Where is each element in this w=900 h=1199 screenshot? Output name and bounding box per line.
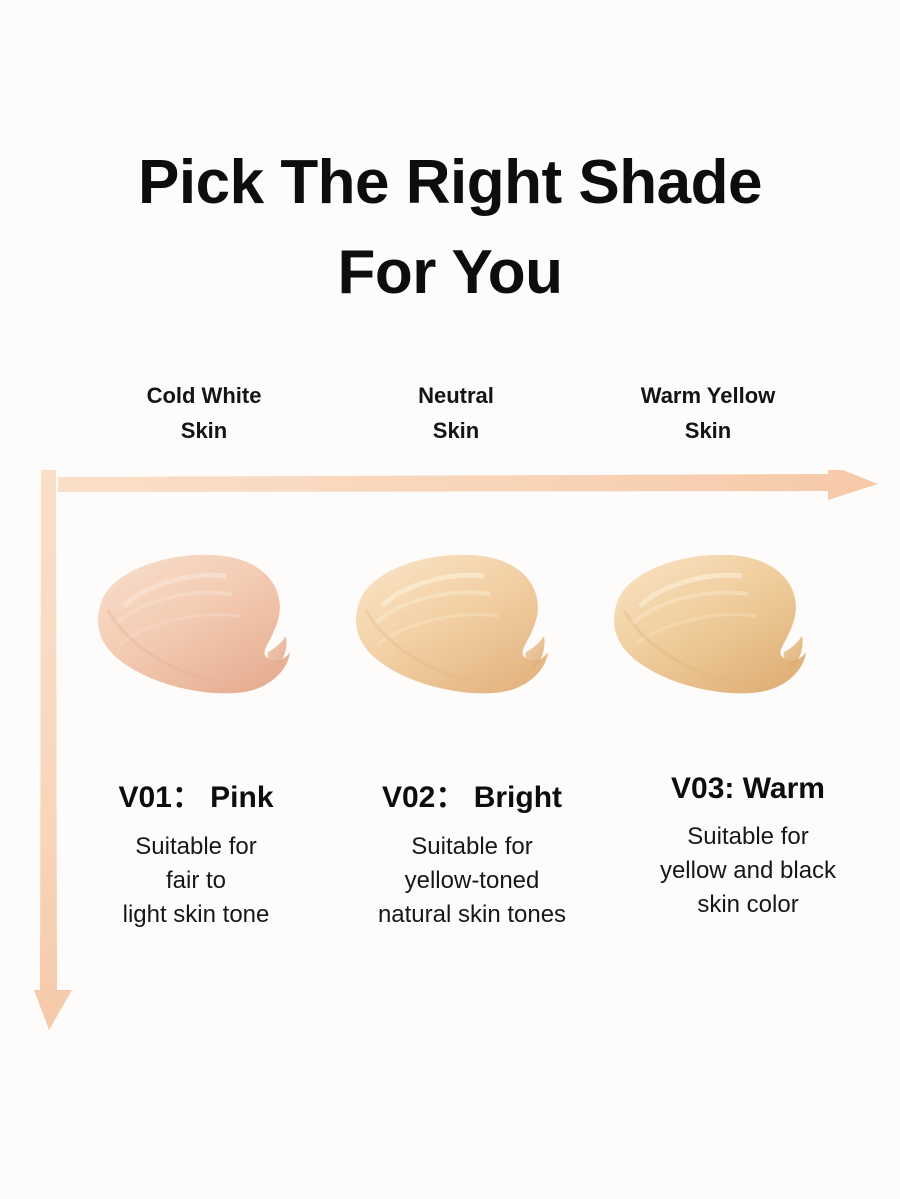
shade-description-line: Suitable for [610, 820, 886, 854]
column-header-line2: Skin [330, 413, 582, 448]
swatch-v02 [330, 548, 588, 728]
shade-description-line: fair to [58, 864, 334, 898]
shade-description-line: light skin tone [58, 898, 334, 932]
page-title-line1: Pick The Right Shade [138, 148, 762, 217]
swatch-row [72, 548, 882, 728]
shade-v01: V01： Pink Suitable for fair to light ski… [58, 772, 334, 932]
page-title-line2: For You [0, 228, 900, 318]
shade-description-v02: Suitable for yellow-toned natural skin t… [334, 830, 610, 932]
shade-name-v01: V01： Pink [58, 772, 334, 816]
column-header-line1: Cold White [147, 383, 262, 408]
shade-name-v02: V02： Bright [334, 772, 610, 816]
shade-description-line: skin color [610, 888, 886, 922]
shade-description-line: Suitable for [58, 830, 334, 864]
swatch-v03 [588, 548, 846, 728]
shade-guide-page: Pick The Right Shade For You Cold White … [0, 0, 900, 1199]
shade-name-v03: V03: Warm [610, 772, 886, 806]
shade-v02: V02： Bright Suitable for yellow-toned na… [334, 772, 610, 932]
column-header-neutral-skin: Neutral Skin [330, 378, 582, 448]
shade-description-v03: Suitable for yellow and black skin color [610, 820, 886, 922]
column-header-cold-white-skin: Cold White Skin [78, 378, 330, 448]
shade-info-row: V01： Pink Suitable for fair to light ski… [58, 772, 888, 932]
column-headers: Cold White Skin Neutral Skin Warm Yellow… [60, 378, 880, 448]
shade-description-line: yellow and black [610, 854, 886, 888]
column-header-warm-yellow-skin: Warm Yellow Skin [582, 378, 834, 448]
shade-description-line: Suitable for [334, 830, 610, 864]
swatch-v01 [72, 548, 330, 728]
shade-description-line: yellow-toned [334, 864, 610, 898]
shade-v03: V03: Warm Suitable for yellow and black … [610, 772, 886, 932]
shade-description-line: natural skin tones [334, 898, 610, 932]
column-header-line1: Warm Yellow [641, 383, 776, 408]
column-header-line2: Skin [582, 413, 834, 448]
page-title: Pick The Right Shade For You [0, 138, 900, 318]
column-header-line2: Skin [78, 413, 330, 448]
shade-description-v01: Suitable for fair to light skin tone [58, 830, 334, 932]
column-header-line1: Neutral [418, 383, 494, 408]
horizontal-arrow [58, 470, 878, 500]
